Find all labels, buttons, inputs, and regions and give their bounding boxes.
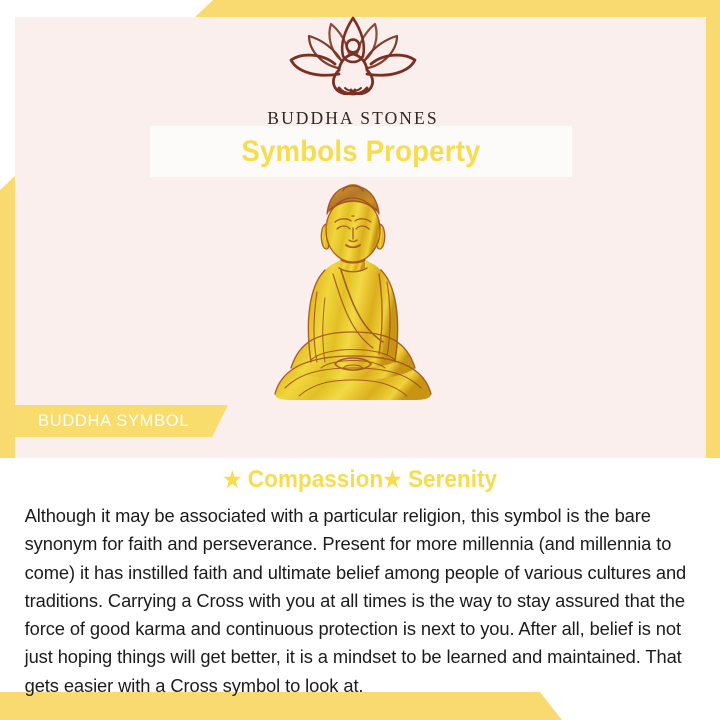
content-paragraph: Although it may be associated with a par…: [0, 494, 709, 700]
page-title: Symbols Property: [241, 135, 480, 169]
symbol-tag-label: BUDDHA SYMBOL: [15, 412, 189, 431]
symbol-tag: BUDDHA SYMBOL: [15, 405, 228, 437]
brand-header: BUDDHA STONES: [0, 16, 706, 129]
content-section: ★ Compassion★ Serenity Although it may b…: [0, 458, 720, 692]
headline-word-compassion: Compassion: [242, 466, 384, 493]
content-headline: ★ Compassion★ Serenity: [22, 458, 699, 494]
lotus-meditation-figure-icon: [277, 16, 429, 106]
headline-word-serenity: Serenity: [402, 466, 497, 493]
star-icon-2: ★: [383, 467, 402, 492]
golden-buddha-statue-illustration: [255, 182, 451, 408]
infographic-poster: BUDDHA STONES Symbols Property: [0, 0, 720, 720]
decorative-right-strip: [706, 0, 720, 505]
star-icon-1: ★: [223, 467, 242, 492]
buddha-illustration-container: [0, 178, 706, 408]
decorative-top-band: [195, 0, 720, 17]
title-banner: Symbols Property: [150, 126, 572, 177]
